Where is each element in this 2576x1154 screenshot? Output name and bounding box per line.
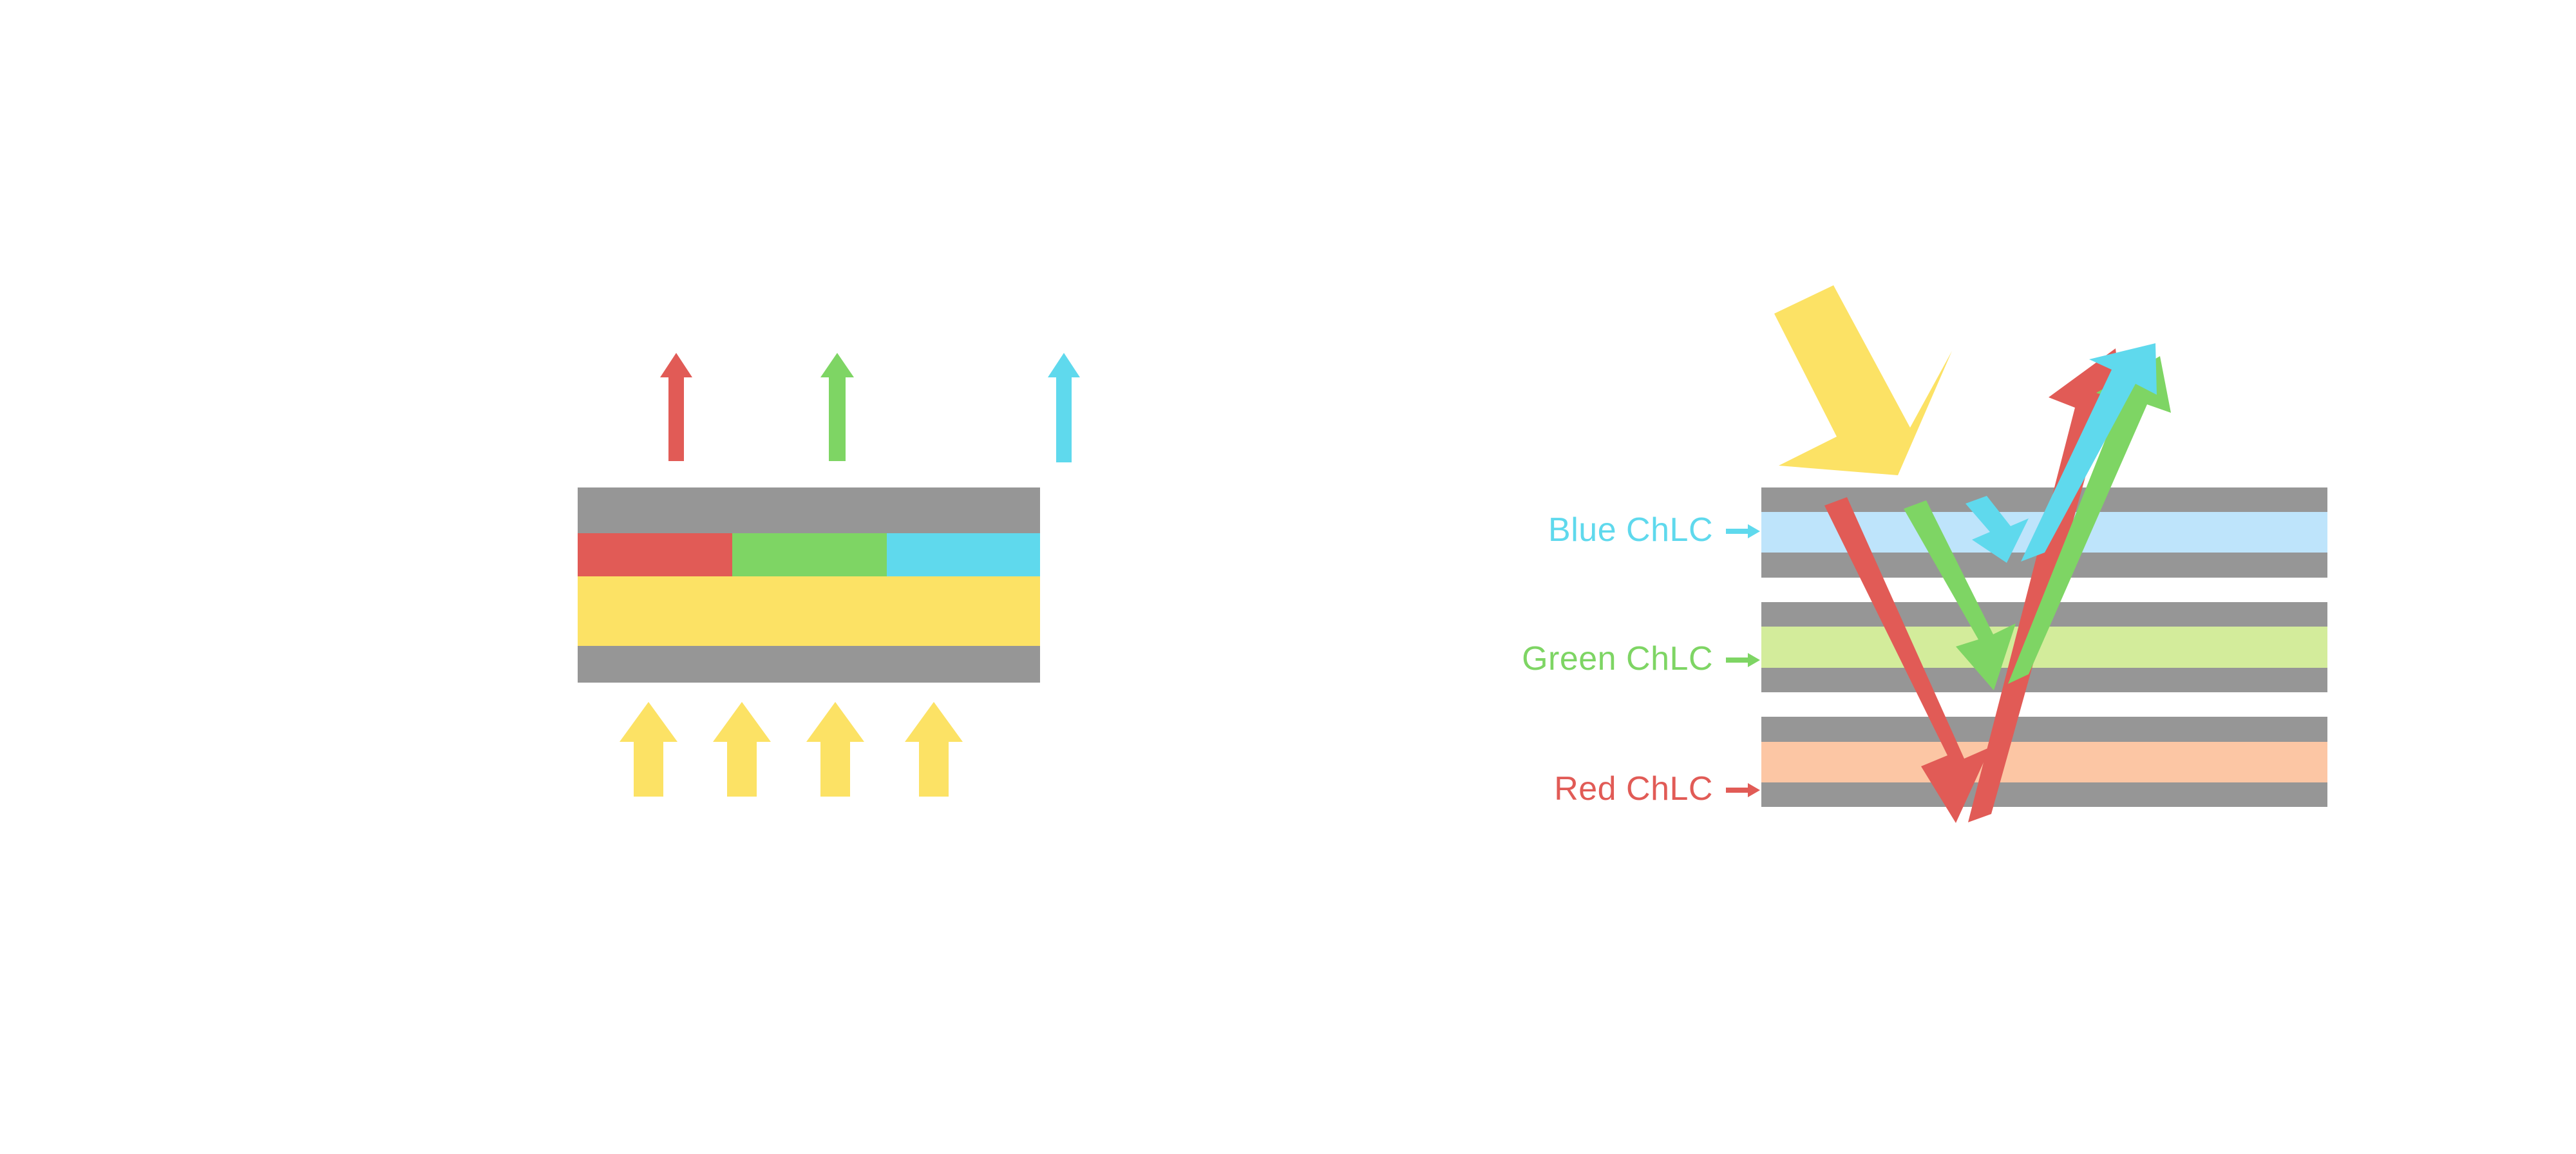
green-chlc-label: Green ChLC <box>1522 640 1713 677</box>
backlight-layer <box>578 576 1040 646</box>
left-stack <box>578 487 1040 683</box>
red-chlc-label: Red ChLC <box>1554 770 1713 808</box>
red-bottom-electrode <box>1761 782 2327 807</box>
diagram-canvas: Blue ChLC Green ChLC Red ChLC <box>0 0 2576 1154</box>
left-bottom-electrode <box>578 646 1040 683</box>
blue-color-filter <box>887 533 1040 576</box>
blue-chlc-label: Blue ChLC <box>1548 511 1713 549</box>
red-color-filter <box>578 533 732 576</box>
green-color-filter <box>732 533 887 576</box>
left-top-electrode <box>578 487 1040 533</box>
chlc-diagram-svg: Blue ChLC Green ChLC Red ChLC <box>0 0 2576 1154</box>
red-top-electrode <box>1761 717 2327 742</box>
red-chlc-layer <box>1761 742 2327 782</box>
green-bottom-electrode <box>1761 668 2327 692</box>
